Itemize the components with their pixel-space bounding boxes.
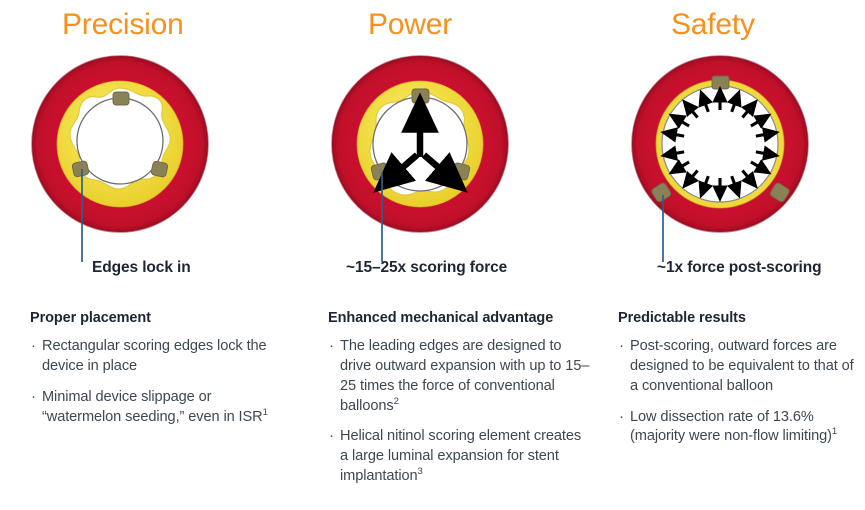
- scoring-edge-top: [113, 92, 129, 105]
- footnote-marker: 1: [832, 427, 837, 438]
- panel-precision: Precision: [0, 0, 300, 510]
- callout-label-safety: ~1x force post-scoring: [657, 259, 821, 277]
- bullet-text: The leading edges are designed to drive …: [340, 338, 589, 414]
- safety-diagram-svg: [622, 52, 865, 282]
- footnote-marker: 2: [394, 396, 399, 407]
- panel-heading-precision: Precision: [62, 8, 184, 42]
- bullet-text: Low dissection rate of 13.6% (majority w…: [630, 409, 832, 445]
- panel-heading-power: Power: [368, 8, 452, 42]
- body-title-power: Enhanced mechanical advantage: [328, 310, 590, 326]
- scoring-balloon-infographic: Precision: [0, 0, 865, 510]
- footnote-marker: 3: [418, 466, 423, 477]
- list-item: Rectangular scoring edges lock the devic…: [30, 337, 275, 377]
- panel-power: Power: [300, 0, 600, 510]
- bullet-text: Minimal device slippage or “watermelon s…: [42, 389, 263, 425]
- list-item: Post-scoring, outward forces are designe…: [618, 337, 858, 397]
- list-item: Low dissection rate of 13.6% (majority w…: [618, 408, 858, 448]
- callout-label-precision: Edges lock in: [92, 259, 191, 277]
- artery-cross-section-safety: [622, 52, 865, 287]
- list-item: Helical nitinol scoring element creates …: [328, 427, 590, 487]
- panel-safety: Safety: [600, 0, 865, 510]
- bullet-list-power: The leading edges are designed to drive …: [328, 337, 590, 487]
- artery-cross-section-precision: [28, 52, 278, 287]
- bullet-list-safety: Post-scoring, outward forces are designe…: [618, 337, 858, 447]
- body-title-precision: Proper placement: [30, 310, 275, 326]
- bullet-text: Helical nitinol scoring element creates …: [340, 428, 581, 484]
- body-block-precision: Proper placement Rectangular scoring edg…: [30, 310, 275, 427]
- callout-label-power: ~15–25x scoring force: [346, 259, 507, 277]
- body-title-safety: Predictable results: [618, 310, 858, 326]
- bullet-list-precision: Rectangular scoring edges lock the devic…: [30, 337, 275, 427]
- panel-heading-safety: Safety: [671, 8, 755, 42]
- scoring-edge-left: [72, 160, 90, 177]
- scoring-edge-top: [712, 76, 729, 89]
- balloon-circle: [77, 98, 163, 184]
- footnote-marker: 1: [263, 407, 268, 418]
- body-block-safety: Predictable results Post-scoring, outwar…: [618, 310, 858, 447]
- list-item: The leading edges are designed to drive …: [328, 337, 590, 416]
- power-diagram-svg: [320, 52, 580, 282]
- scoring-edge-right: [151, 161, 169, 178]
- bullet-text: Post-scoring, outward forces are designe…: [630, 338, 854, 394]
- body-block-power: Enhanced mechanical advantage The leadin…: [328, 310, 590, 487]
- bullet-text: Rectangular scoring edges lock the devic…: [42, 338, 267, 374]
- artery-cross-section-power: [320, 52, 580, 287]
- scoring-edge-top: [412, 89, 429, 103]
- list-item: Minimal device slippage or “watermelon s…: [30, 388, 275, 428]
- precision-diagram-svg: [28, 52, 278, 282]
